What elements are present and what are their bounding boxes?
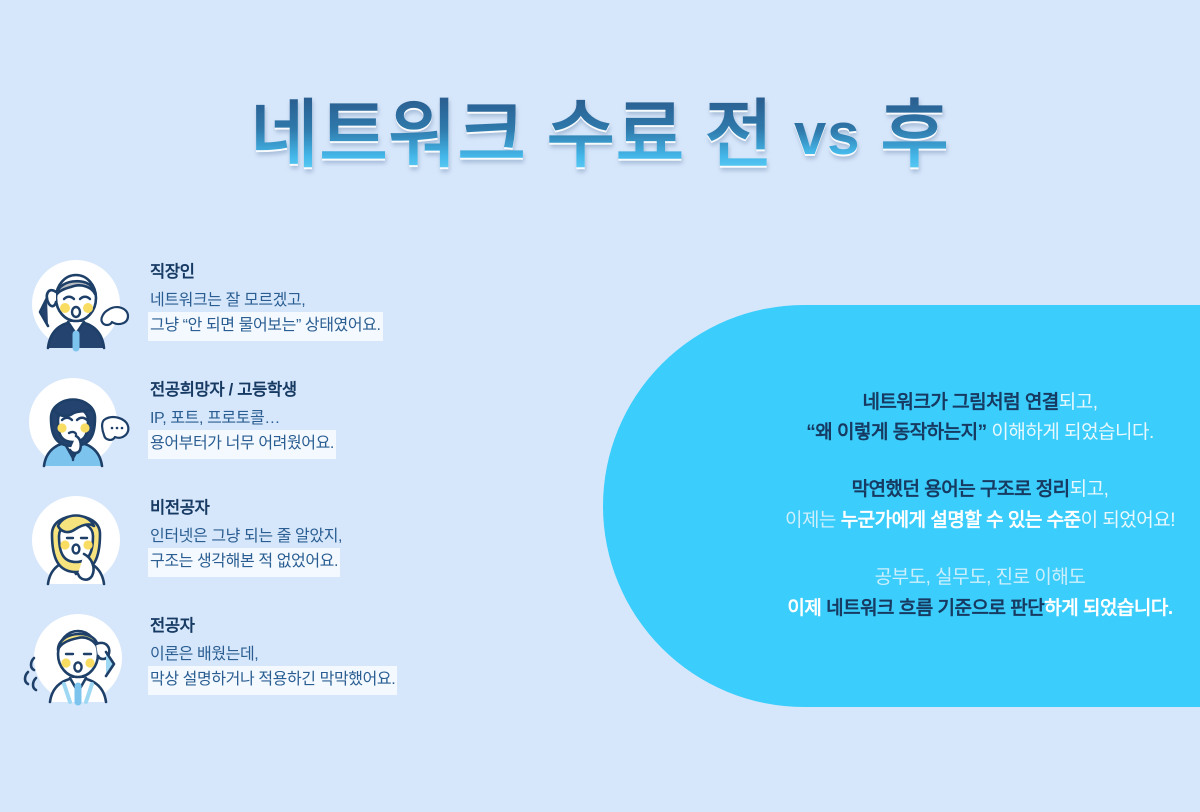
before-list: 직장인 네트워크는 잘 모르겠고, 그냥 “안 되면 물어보는” 상태였어요. [18,252,538,724]
title-char: v [794,105,827,166]
title-char: 수 [547,96,616,174]
after-text-segment: 되고, [1070,479,1109,500]
non-major-woman-avatar [18,488,138,592]
title-char: 후 [881,96,950,174]
list-item: 전공희망자 / 고등학생 IP, 포트, 프로토콜… 용어부터가 너무 어려웠어… [18,370,538,488]
after-text-segment: 막연했던 용어는 구조로 정리 [852,479,1070,500]
person-text: 비전공자 인터넷은 그냥 되는 줄 알았지, 구조는 생각해본 적 없었어요. [138,488,342,575]
after-text-segment: 되고, [1059,392,1098,413]
title-text: 네트워크수료전vs후 [250,96,949,174]
title-part-after: 후 [881,93,950,176]
page-title: 네트워크수료전vs후 [0,96,1200,174]
list-item: 직장인 네트워크는 잘 모르겠고, 그냥 “안 되면 물어보는” 상태였어요. [18,252,538,370]
title-part-completion: 수료 [547,93,685,176]
after-line: 이제는 누군가에게 설명할 수 있는 수준이 되었어요! [785,506,1175,537]
person-line-2: 그냥 “안 되면 물어보는” 상태였어요. [150,314,381,339]
title-char: 네 [250,96,319,174]
after-paragraph: 공부도, 실무도, 진로 이해도 이제 네트워크 흐름 기준으로 판단하게 되었… [787,563,1172,625]
after-text-segment: 하게 되었습니다. [1044,598,1172,619]
after-line: 공부도, 실무도, 진로 이해도 [787,563,1172,594]
office-worker-avatar [18,252,138,356]
person-text: 직장인 네트워크는 잘 모르겠고, 그냥 “안 되면 물어보는” 상태였어요. [138,252,381,339]
after-text-segment: 이제는 [785,510,841,531]
person-line-2: 구조는 생각해본 적 없었어요. [150,550,338,575]
title-char: s [827,105,860,166]
after-text-segment: “왜 이렇게 동작하는지” [806,422,986,443]
person-line-1: IP, 포트, 프로토콜… [150,407,280,432]
after-paragraph: 막연했던 용어는 구조로 정리되고, 이제는 누군가에게 설명할 수 있는 수준… [785,475,1175,537]
title-char: 전 [705,96,774,174]
person-line-1: 이론은 배웠는데, [150,643,258,668]
title-char: 료 [616,96,685,174]
after-text-segment: 네트워크가 그림처럼 연결 [862,392,1058,413]
after-text-segment: 이 되었어요! [1081,510,1175,531]
person-role: 직장인 [150,258,381,282]
after-text-segment: 누군가에게 설명할 수 있는 수준 [841,510,1081,531]
after-paragraph: 네트워크가 그림처럼 연결되고, “왜 이렇게 동작하는지” 이해하게 되었습니… [806,388,1154,450]
after-text-segment: 네트워크 흐름 기준으로 판단 [826,598,1044,619]
title-char: 워 [389,96,458,174]
after-line: 이제 네트워크 흐름 기준으로 판단하게 되었습니다. [787,594,1172,625]
person-role: 비전공자 [150,494,342,518]
after-text-segment: 공부도, 실무도, 진로 이해도 [875,567,1086,588]
person-line-2: 용어부터가 너무 어려웠어요. [150,432,334,457]
student-girl-avatar [18,370,138,474]
person-role: 전공희망자 / 고등학생 [150,376,334,400]
after-line: “왜 이렇게 동작하는지” 이해하게 되었습니다. [806,418,1154,449]
major-man-avatar [18,606,138,710]
after-line: 막연했던 용어는 구조로 정리되고, [785,475,1175,506]
person-line-1: 인터넷은 그냥 되는 줄 알았지, [150,525,342,550]
person-role: 전공자 [150,612,395,636]
after-paragraphs: 네트워크가 그림처럼 연결되고, “왜 이렇게 동작하는지” 이해하게 되었습니… [778,305,1182,707]
person-text: 전공자 이론은 배웠는데, 막상 설명하거나 적용하긴 막막했어요. [138,606,395,693]
after-text-segment: 이해하게 되었습니다. [987,422,1154,443]
person-line-2: 막상 설명하거나 적용하긴 막막했어요. [150,668,395,693]
after-line: 네트워크가 그림처럼 연결되고, [806,388,1154,419]
list-item: 비전공자 인터넷은 그냥 되는 줄 알았지, 구조는 생각해본 적 없었어요. [18,488,538,606]
title-char: 크 [458,96,527,174]
title-part-before: 전 [705,93,774,176]
person-text: 전공희망자 / 고등학생 IP, 포트, 프로토콜… 용어부터가 너무 어려웠어… [138,370,334,457]
title-char: 트 [319,96,388,174]
person-line-1: 네트워크는 잘 모르겠고, [150,289,305,314]
infographic-canvas: 네트워크수료전vs후 [0,0,1200,812]
after-text-segment: 이제 [787,598,826,619]
list-item: 전공자 이론은 배웠는데, 막상 설명하거나 적용하긴 막막했어요. [18,606,538,724]
after-panel: 네트워크가 그림처럼 연결되고, “왜 이렇게 동작하는지” 이해하게 되었습니… [603,305,1200,707]
title-part-vs: vs [794,93,861,176]
title-part-network: 네트워크 [250,93,526,176]
